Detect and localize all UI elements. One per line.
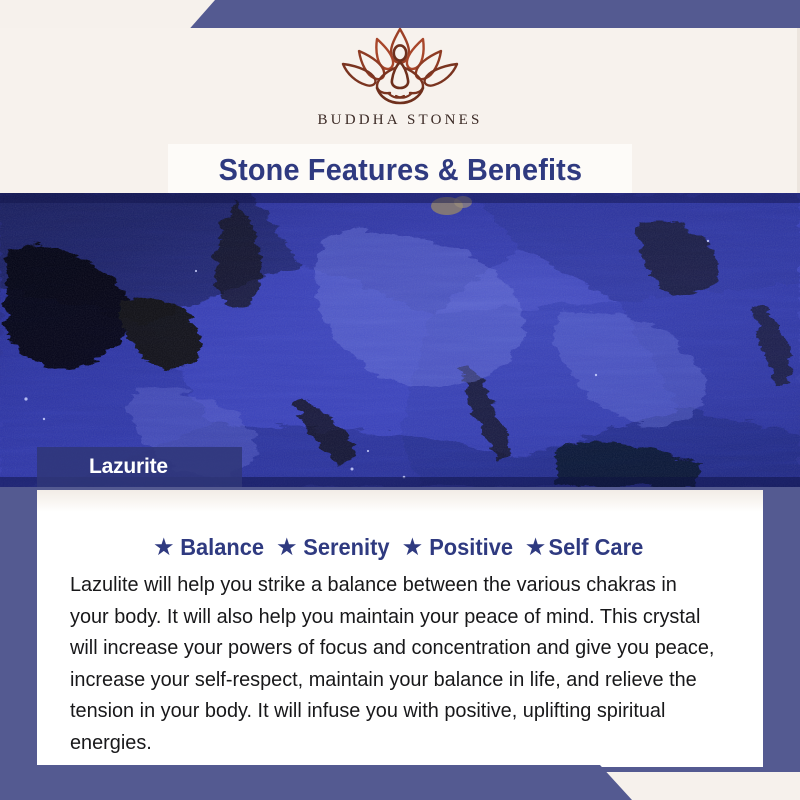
stone-description: Lazulite will help you strike a balance … (70, 569, 718, 758)
benefit-label: Balance (180, 534, 264, 561)
content-panel: ★ Balance ★ Serenity ★ Positive ★ Self C… (37, 490, 763, 767)
panel-top-sheen (37, 490, 763, 512)
star-icon: ★ (403, 537, 422, 558)
benefit-item-positive: ★ Positive (403, 534, 515, 561)
benefit-item-serenity: ★ Serenity (277, 534, 392, 561)
brand-logo-block: BUDDHA STONES (0, 24, 800, 134)
brand-name: BUDDHA STONES (317, 112, 482, 129)
star-icon: ★ (526, 537, 545, 558)
benefit-label: Positive (429, 534, 513, 561)
star-icon: ★ (277, 537, 296, 558)
benefits-row: ★ Balance ★ Serenity ★ Positive ★ Self C… (37, 534, 763, 561)
stone-name-bar: Lazurite (37, 447, 242, 487)
benefit-label: Serenity (304, 534, 390, 561)
benefit-item-balance: ★ Balance (154, 534, 266, 561)
stone-name-label: Lazurite (89, 455, 168, 479)
benefit-label: Self Care (548, 534, 643, 561)
lazurite-stone-photo (0, 193, 800, 487)
bottom-left-stub (0, 753, 37, 765)
benefit-item-self-care: ★ Self Care (526, 534, 646, 561)
star-icon: ★ (154, 537, 173, 558)
title-banner: Stone Features & Benefits (168, 144, 632, 196)
poster-root: BUDDHA STONES Stone Features & Benefits (0, 0, 800, 800)
lotus-meditation-logo-icon (325, 24, 475, 110)
stone-texture-graphic (0, 193, 800, 487)
page-title: Stone Features & Benefits (218, 152, 582, 188)
